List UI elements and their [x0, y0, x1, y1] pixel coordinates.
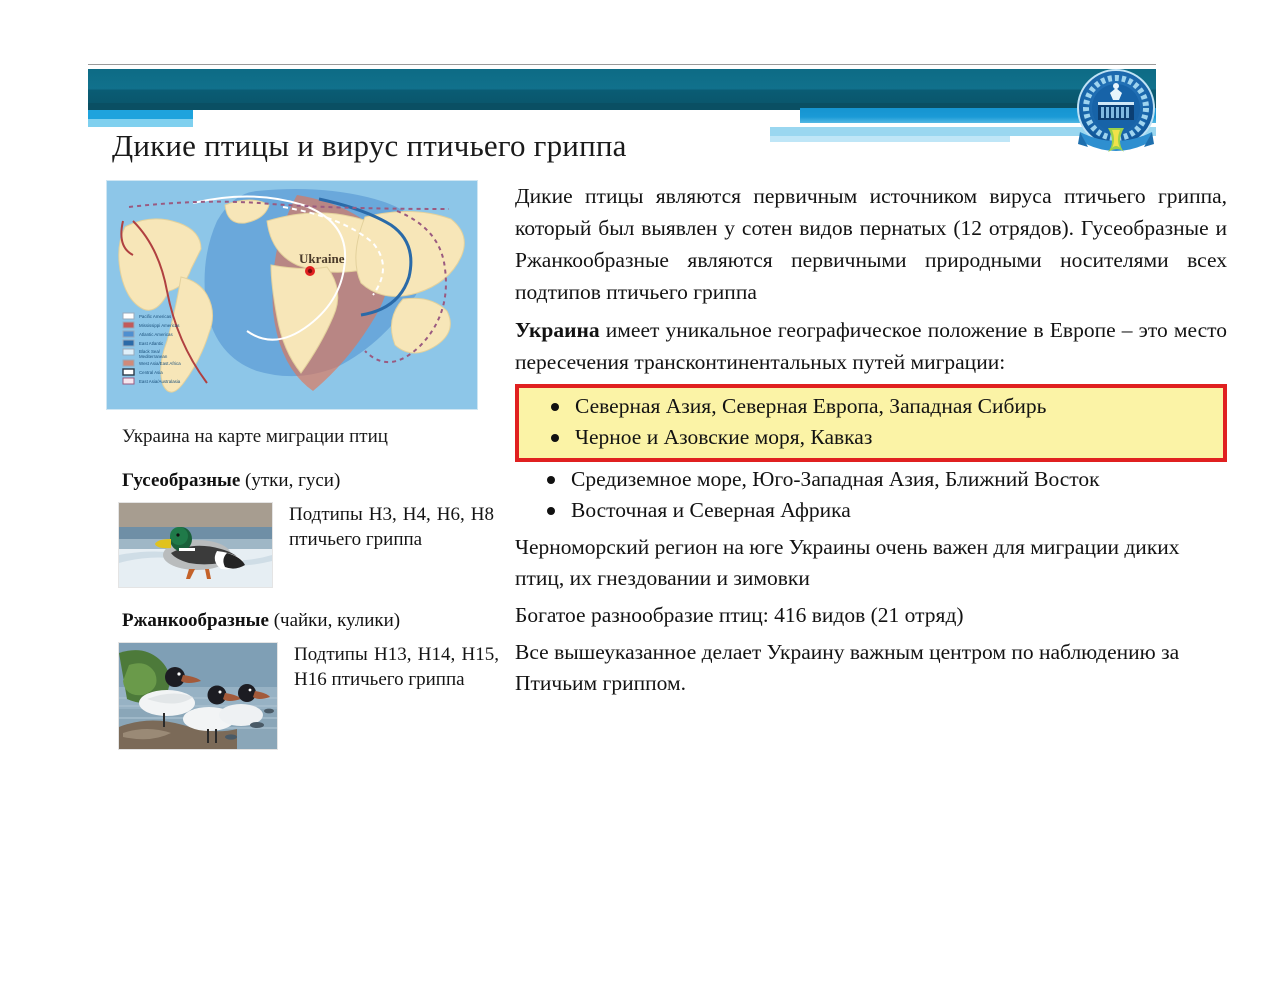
svg-text:Pacific Americas: Pacific Americas: [139, 314, 172, 319]
intro-paragraph: Дикие птицы являются первичным источнико…: [515, 180, 1227, 308]
map-caption: Украина на карте миграции птиц: [106, 426, 501, 448]
black-sea-paragraph: Черноморский регион на юге Украины очень…: [515, 532, 1227, 594]
group-heading-bold: Ржанкообразные: [122, 610, 269, 631]
ukraine-bold-lead: Украина: [515, 318, 600, 342]
ukraine-paragraph: Украина имеет уникальное географическое …: [515, 314, 1227, 378]
mallard-duck-image: [118, 502, 273, 588]
conclusion-paragraph: Все вышеуказанное делает Украину важным …: [515, 637, 1227, 699]
subtype-text-anseriformes: Подтипы H3, H4, H6, H8 птичьего гриппа: [289, 502, 494, 552]
list-item: Восточная и Северная Африка: [515, 495, 1227, 526]
banner-dark-bar: [88, 69, 1156, 110]
banner-top-rule: [88, 64, 1156, 68]
subtype-text-charadriiformes: Подтипы H13, H14, H15, H16 птичьего грип…: [294, 642, 499, 692]
university-emblem-icon: [1072, 66, 1160, 162]
group-row-anseriformes: Подтипы H3, H4, H6, H8 птичьего гриппа: [106, 502, 501, 588]
gulls-image: [118, 642, 278, 750]
highlighted-flyways-box: Северная Азия, Северная Европа, Западная…: [515, 384, 1227, 462]
svg-text:Central Asia: Central Asia: [139, 370, 163, 375]
highlighted-flyways-list: Северная Азия, Северная Европа, Западная…: [519, 391, 1223, 453]
list-item: Средиземное море, Юго-Западная Азия, Бли…: [515, 464, 1227, 495]
svg-text:Ukraine: Ukraine: [299, 251, 345, 266]
other-flyways-list: Средиземное море, Юго-Западная Азия, Бли…: [515, 464, 1227, 526]
svg-text:East Atlantic: East Atlantic: [139, 341, 164, 346]
list-item: Черное и Азовские моря, Кавказ: [519, 422, 1223, 453]
group-heading-bold: Гусеобразные: [122, 470, 240, 491]
migration-map-image: Ukraine Pacific Americas Mississippi Ame…: [106, 180, 478, 410]
svg-text:Mediterranean: Mediterranean: [139, 354, 168, 359]
ukraine-paragraph-rest: имеет уникальное географическое положени…: [515, 318, 1227, 374]
list-item: Северная Азия, Северная Европа, Западная…: [519, 391, 1223, 422]
svg-text:Mississippi Americas: Mississippi Americas: [139, 323, 180, 328]
header-banner: [88, 64, 1156, 126]
left-column: Ukraine Pacific Americas Mississippi Ame…: [106, 180, 501, 750]
right-column: Дикие птицы являются первичным источнико…: [515, 180, 1227, 699]
group-heading-charadriiformes: Ржанкообразные (чайки, кулики): [106, 610, 501, 632]
group-heading-rest: (чайки, кулики): [269, 610, 400, 631]
svg-text:East Asia/Australasia: East Asia/Australasia: [139, 379, 181, 384]
slide-canvas: Дикие птицы и вирус птичьего гриппа: [0, 0, 1280, 989]
group-heading-rest: (утки, гуси): [240, 470, 340, 491]
svg-text:West Asia/East Africa: West Asia/East Africa: [139, 361, 181, 366]
page-title: Дикие птицы и вирус птичьего гриппа: [112, 126, 872, 166]
diversity-paragraph: Богатое разнообразие птиц: 416 видов (21…: [515, 600, 1227, 631]
svg-text:Atlantic Americas: Atlantic Americas: [139, 332, 173, 337]
group-row-charadriiformes: Подтипы H13, H14, H15, H16 птичьего грип…: [106, 642, 501, 750]
group-heading-anseriformes: Гусеобразные (утки, гуси): [106, 470, 501, 492]
